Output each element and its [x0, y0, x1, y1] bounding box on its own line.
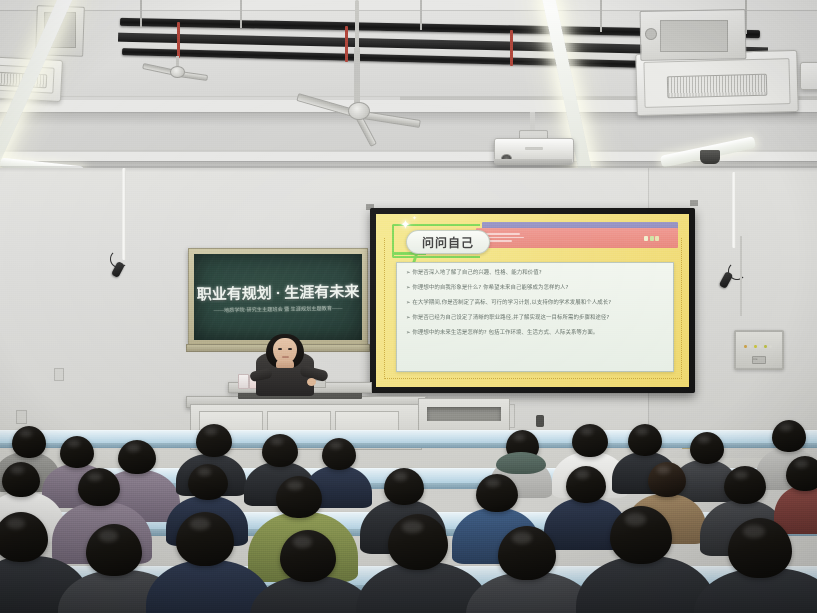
ac-duct-box-panel-right [660, 20, 728, 52]
student-head [280, 530, 336, 582]
ceiling-hanger-3 [420, 0, 422, 30]
student-head [196, 424, 232, 457]
tissue-box [238, 374, 249, 389]
slide-bullet-5-text: ➢ 你理想中的未来生活是怎样的? 包括工作环境、生活方式、人际关系等方面。 [406, 331, 598, 336]
tube-light-3-bracket [700, 150, 720, 164]
slide-bullet-1-text: ➢ 你是否深入地了解了自己的兴趣、性格、能力和价值? [406, 271, 542, 276]
ceiling-fan-rod [355, 0, 359, 50]
slide-title: 问问自己 [422, 234, 474, 251]
projector-base [494, 159, 572, 165]
student-head [566, 466, 606, 503]
slide-title-tag: 问问自己 [406, 230, 490, 254]
ceiling-hanger-1 [140, 0, 142, 28]
ceiling-hanger-4 [600, 0, 602, 32]
ceiling-fan-hub [348, 102, 370, 120]
student-head [648, 462, 686, 497]
ceiling-hanger-red-1 [177, 22, 180, 58]
student-head [610, 506, 672, 564]
slide-bullet-4-text: ➢ 你是否已经为自己设定了清晰的职业路径,并了解实现这一目标所需的步骤和途径? [406, 316, 609, 321]
wall-socket-left-2 [16, 410, 27, 424]
sparkle-icon: ✦ [400, 218, 411, 231]
slide-bullet-5: ➢ 你理想中的未来生活是怎样的? 包括工作环境、生活方式、人际关系等方面。 [406, 331, 598, 336]
control-panel-label: CE [753, 357, 758, 361]
ceiling-hanger-2 [240, 0, 242, 28]
student-head [86, 524, 142, 576]
slide-banner-badge [644, 236, 659, 241]
ceiling-hanger-red-3 [510, 30, 513, 66]
student-head [2, 462, 40, 497]
wall-sensor [536, 415, 544, 427]
blackboard: 职业有规划 · 生涯有未来 ——地质学院·研究生主题班会 暨 生涯规划主题教育—… [188, 248, 368, 346]
ceiling-fan-downrod [354, 48, 360, 110]
blackboard-headline: 职业有规划 · 生涯有未来 [194, 280, 362, 304]
student-head [628, 424, 662, 456]
student-head [276, 476, 322, 518]
student-head [188, 464, 228, 500]
slide-bullet-2: ➢ 你理想中的自我形象是什么? 你希望未来自己能够成为怎样的人? [406, 286, 568, 291]
wall-socket-left [54, 368, 64, 381]
student-head [262, 434, 298, 467]
classroom-photo: CE 职业有规划 · 生涯有未来 ——地质学院·研究生主题班会 暨 生涯规划主题… [0, 0, 817, 613]
presenter-neck [276, 360, 294, 368]
student-head [384, 468, 424, 505]
student-head [690, 432, 724, 464]
slide-bullet-1: ➢ 你是否深入地了解了自己的兴趣、性格、能力和价值? [406, 271, 542, 276]
student-head [12, 426, 46, 458]
student-head [786, 456, 817, 491]
student-head [176, 512, 234, 566]
student-head [322, 438, 356, 470]
student-head [118, 440, 156, 474]
presenter-hand-right [307, 378, 316, 386]
projection-screen: ✦ ✦ 问问自己 ➢ 你是否深入地了解了自己的兴趣、性格、能力和价值? ➢ 你理… [370, 208, 695, 393]
student-head [388, 514, 448, 570]
student-head [772, 420, 806, 452]
ac-knob [645, 28, 657, 40]
presentation-slide: ✦ ✦ 问问自己 ➢ 你是否深入地了解了自己的兴趣、性格、能力和价值? ➢ 你理… [376, 214, 689, 387]
slide-bullet-3: ➢ 在大学期间,你是否制定了高标、可行的学习计划,以支持你的学术发展和个人成长? [406, 301, 611, 306]
student-hood [496, 452, 546, 474]
student-head [728, 518, 792, 578]
slide-bullet-2-text: ➢ 你理想中的自我形象是什么? 你希望未来自己能够成为怎样的人? [406, 286, 568, 291]
slide-bullet-4: ➢ 你是否已经为自己设定了清晰的职业路径,并了解实现这一目标所需的步骤和途径? [406, 316, 609, 321]
student-head [498, 526, 556, 580]
sparkle-small-icon: ✦ [412, 216, 417, 222]
student-head [78, 468, 120, 506]
slide-bullet-3-text: ➢ 在大学期间,你是否制定了高标、可行的学习计划,以支持你的学术发展和个人成长? [406, 301, 611, 306]
ceiling-fan-2-hub [170, 66, 185, 78]
screen-bracket-right [690, 200, 698, 206]
ceiling-hanger-red-2 [345, 26, 348, 62]
wall-control-panel: CE [734, 330, 784, 370]
student-head [572, 424, 608, 457]
slide-banner-lines [486, 233, 526, 244]
hanging-microphone-pole-right [732, 172, 736, 248]
student-head [476, 474, 518, 512]
microphone-drop-wire [740, 236, 742, 316]
student-head [60, 436, 94, 468]
student-head [724, 466, 766, 504]
ac-cassette-unit-far-right [800, 62, 817, 90]
hanging-microphone-pole-left [122, 168, 126, 260]
